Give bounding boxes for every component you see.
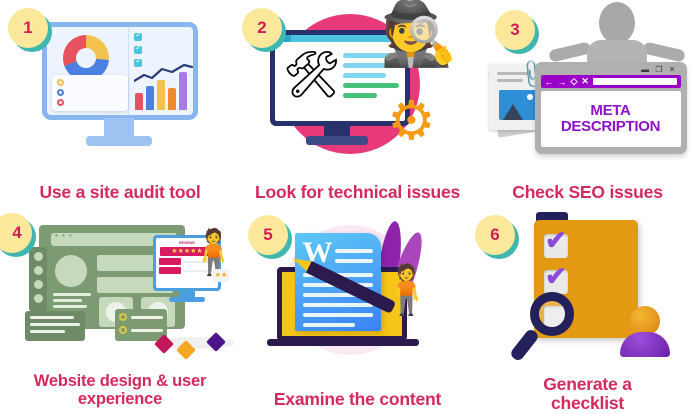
line [335,249,373,253]
bar [157,80,165,110]
check-icon [134,33,142,41]
bar [179,72,187,110]
decor-diamond [206,332,226,352]
user-avatar-icon [619,306,671,358]
step-badge-3: 3 [495,10,535,50]
monitor-right-pane [129,27,193,115]
monitor-base [86,136,152,146]
back-arrow-icon[interactable]: ← [545,77,554,87]
meta-title-line-1: META [590,103,630,119]
checklist-item [134,46,188,54]
bar-chart-icon [135,70,187,110]
arm-left [548,41,592,62]
step-label-6: Generate a checklist [475,375,700,412]
step-card-3: 3 📎 [475,0,700,207]
dashboard-monitor-icon [42,18,198,150]
review-tag [159,267,181,274]
meta-title-line-2: DESCRIPTION [561,119,660,135]
step-card-5: 5 🧍 W [240,207,475,414]
avatar-body [620,332,670,357]
checklist-row: ✔ [544,234,631,258]
monitor-stand [104,118,134,138]
stats-row [57,79,124,86]
sidebar-item-icon [34,252,43,261]
monitor-tools-icon: 🛠 ⚙ 🕵 [258,4,458,164]
step-label-6-line-1: Generate a [477,375,698,393]
ring-icon [57,79,64,86]
line [303,313,373,317]
checklist-row: ✔ [544,270,631,294]
line [343,73,387,78]
step-badge-6: 6 [475,215,515,255]
sidebar-item-icon [34,280,43,289]
text-lines [53,293,91,311]
check-icon [134,46,142,54]
step-card-1: 1 [0,0,240,207]
window-controls[interactable]: ▬ ❐ ✕ [641,65,677,74]
magnifier-icon [516,292,588,366]
monitor-base [306,136,368,145]
tools-glyph: 🛠 [283,51,341,97]
step-card-6: 6 ✔ ✔ [475,207,700,414]
radio-icon[interactable] [119,313,127,321]
arm-right [642,41,686,62]
sidebar-nav [29,247,47,312]
step-card-2: 2 🛠 [240,0,475,207]
step-number-6: 6 [490,225,499,245]
line [53,305,87,308]
step-badge-1: 1 [8,8,48,48]
document-pencil-icon: 🧍 W [263,211,453,371]
browser-toolbar: ← → ◇ ✕ [541,75,681,88]
line [53,293,91,296]
ring-icon [57,89,64,96]
browser-page: META DESCRIPTION [541,91,681,147]
checklist-group [129,27,193,67]
step-number-3: 3 [510,20,519,40]
stats-row [57,99,124,106]
rating-badge: ★★ [213,269,229,282]
step-number-5: 5 [263,225,272,245]
step-label-2: Look for technical issues [240,183,475,201]
line [303,323,355,327]
step-card-4: 4 [0,207,240,414]
step-illustration-4: REVIEWS ★★★★★ [0,207,240,375]
reviews-monitor-icon: REVIEWS ★★★★★ [153,225,235,335]
step-badge-5: 5 [248,215,288,255]
info-card [25,311,85,341]
sidebar-item-icon [34,266,43,275]
address-bar[interactable] [593,78,677,85]
gear-icon: ⚙ [387,94,435,148]
bar [168,88,176,110]
ring-icon [57,99,64,106]
magnifier-handle [509,328,540,363]
step-number-1: 1 [23,18,32,38]
monitor-left-pane [47,27,129,115]
avatar-placeholder [55,255,87,287]
stats-card [52,75,128,111]
sidebar-item-icon [34,294,43,303]
step-label-4: Website design & user experience [0,373,240,408]
line [303,303,373,307]
review-tag [159,258,181,265]
line [30,316,74,319]
step-label-6-line-2: checklist [477,394,698,412]
website-layout-icon: REVIEWS ★★★★★ [5,211,235,371]
code-icon[interactable]: ◇ [571,76,578,87]
bar [135,93,143,110]
person-magnifier-icon: 🕵 [380,4,457,66]
line [343,93,378,98]
line [30,330,65,333]
infographic-root: 1 [0,0,700,414]
step-number-4: 4 [2,223,21,243]
clipboard-checklist-icon: ✔ ✔ [500,210,675,372]
step-number-2: 2 [257,18,266,38]
step-label-5: Examine the content [240,390,475,408]
radio-icon[interactable] [119,326,127,334]
browser-window: ▬ ❐ ✕ ← → ◇ ✕ META DESCRIPTION [535,62,687,154]
checkbox[interactable]: ✔ [544,270,568,294]
image-placeholder-icon [499,90,539,120]
stats-row [57,89,124,96]
head [599,2,635,44]
bar [146,86,154,110]
monitor-base [169,297,205,302]
line [30,323,80,326]
magnifier-lens [530,292,574,336]
laptop-base [267,339,419,346]
check-icon: ✔ [545,263,567,289]
checklist-item [134,33,188,41]
line [53,299,82,302]
step-badge-2: 2 [242,8,282,48]
step-label-3: Check SEO issues [475,183,700,201]
checkbox[interactable]: ✔ [544,234,568,258]
check-icon: ✔ [545,227,567,253]
monitor-screen [42,22,198,120]
forward-arrow-icon[interactable]: → [558,77,567,87]
line [343,83,399,88]
step-label-1: Use a site audit tool [0,183,240,201]
close-icon[interactable]: ✕ [581,76,589,87]
line [335,259,373,263]
